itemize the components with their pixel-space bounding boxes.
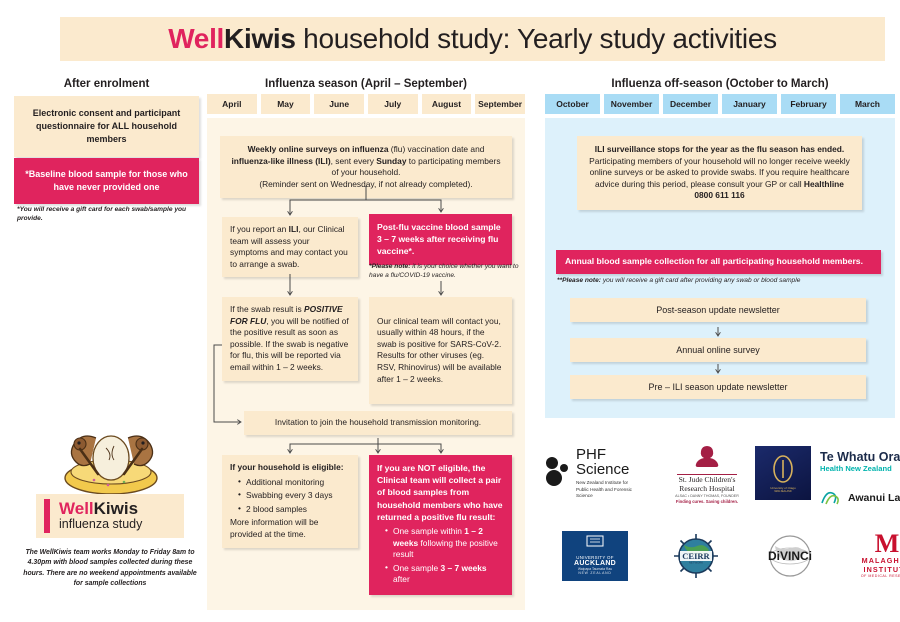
- month-tab-august: August: [422, 94, 472, 114]
- month-tab-january: January: [722, 94, 777, 114]
- team-hours-note: The WellKiwis team works Monday to Frida…: [20, 548, 200, 589]
- box-pre-ili-newsletter: Pre – ILI season update newsletter: [570, 375, 866, 399]
- list-item: 2 blood samples: [239, 504, 350, 516]
- title-brand-kiwis: Kiwis: [224, 23, 296, 54]
- title-brand-well: Well: [168, 23, 224, 54]
- heading-influenza-offseason: Influenza off-season (October to March): [545, 78, 895, 90]
- box-ili-surveillance-stops-text: ILI surveillance stops for the year as t…: [577, 136, 862, 210]
- phf-dots-icon: [545, 456, 571, 490]
- list-item: One sample within 1 – 2 weeks following …: [386, 526, 504, 561]
- note-post-flu-vaccine: *Please note: it is your choice whether …: [369, 262, 519, 280]
- box-post-season-newsletter: Post-season update newsletter: [570, 298, 866, 322]
- month-tab-november: November: [604, 94, 659, 114]
- month-tab-july: July: [368, 94, 418, 114]
- month-strip-offseason: OctoberNovemberDecemberJanuaryFebruaryMa…: [545, 94, 895, 114]
- box-ili-surveillance-stops: ILI surveillance stops for the year as t…: [577, 136, 862, 210]
- brand-stripe: [44, 499, 50, 533]
- box-transmission-invitation: Invitation to join the household transmi…: [244, 411, 512, 435]
- divinci-globe-icon: DiVINCi: [751, 533, 829, 579]
- box-not-eligible: If you are NOT eligible, the Clinical te…: [369, 455, 512, 595]
- box-weekly-surveys-text: Weekly online surveys on influenza (flu)…: [220, 136, 512, 198]
- malaghan-institute-logo: M MALAGHAN INSTITUTE OF MEDICAL RESEARCH: [837, 528, 900, 582]
- box-baseline-blood-sample: *Baseline blood sample for those who hav…: [14, 158, 199, 204]
- university-of-auckland-logo: UNIVERSITY OF AUCKLAND Waipapa Taumata R…: [550, 530, 640, 582]
- month-tab-may: May: [261, 94, 311, 114]
- box-electronic-consent: Electronic consent and participant quest…: [14, 96, 199, 157]
- heading-influenza-season: Influenza season (April – September): [207, 78, 525, 90]
- list-item: One sample 3 – 7 weeks after: [386, 563, 504, 586]
- month-tab-march: March: [840, 94, 895, 114]
- box-report-ili-text: If you report an ILI, our Clinical team …: [222, 217, 358, 277]
- month-tab-april: April: [207, 94, 257, 114]
- list-item: Additional monitoring: [239, 477, 350, 489]
- box-annual-online-survey: Annual online survey: [570, 338, 866, 362]
- kiwi-nest-icon: [36, 430, 186, 500]
- ceirr-logo: CEIRR NETWORK: [653, 530, 739, 582]
- box-clinical-team-contact: Our clinical team will contact you, usua…: [369, 297, 512, 404]
- month-tab-december: December: [663, 94, 718, 114]
- month-tab-october: October: [545, 94, 600, 114]
- phf-science-logo: PHF Science New Zealand Institute for Pu…: [545, 442, 663, 504]
- svg-text:NETWORK: NETWORK: [689, 560, 703, 564]
- box-post-flu-vaccine: Post-flu vaccine blood sample 3 – 7 week…: [369, 214, 512, 265]
- month-tab-february: February: [781, 94, 836, 114]
- footnote-gift-card: *You will receive a gift card for each s…: [17, 205, 202, 223]
- list-item: Swabbing every 3 days: [239, 490, 350, 502]
- box-household-eligible-text: If your household is eligible: Additiona…: [222, 455, 358, 548]
- infographic-page: WellKiwis household study: Yearly study …: [0, 0, 900, 622]
- brand-subtitle: influenza study: [59, 517, 142, 532]
- box-positive-for-flu: If the swab result is POSITIVE FOR FLU, …: [222, 297, 358, 381]
- partner-logos: PHF Science New Zealand Institute for Pu…: [545, 438, 895, 603]
- divinci-logo: DiVINCi: [745, 532, 835, 580]
- auckland-crest-icon: [585, 534, 605, 548]
- box-weekly-surveys: Weekly online surveys on influenza (flu)…: [220, 136, 512, 198]
- box-household-eligible: If your household is eligible: Additiona…: [222, 455, 358, 548]
- st-jude-logo: St. Jude Children's Research Hospital AL…: [665, 444, 749, 504]
- divinci-wordmark: DiVINCi: [768, 549, 812, 563]
- page-title-banner: WellKiwis household study: Yearly study …: [60, 17, 885, 61]
- otago-crest-icon: [770, 454, 796, 484]
- not-eligible-samples-list: One sample within 1 – 2 weeks following …: [377, 526, 504, 586]
- st-jude-child-icon: [690, 444, 724, 468]
- university-of-otago-logo: University of Otago NEW ZEALAND: [753, 444, 813, 502]
- box-report-ili: If you report an ILI, our Clinical team …: [222, 217, 358, 277]
- awanui-wave-icon: [820, 489, 844, 507]
- box-not-eligible-text: If you are NOT eligible, the Clinical te…: [369, 455, 512, 595]
- month-tab-september: September: [475, 94, 525, 114]
- title-rest: household study: Yearly study activities: [296, 23, 777, 54]
- te-whatu-ora-logo: Te Whatu Ora Health New Zealand: [820, 446, 900, 478]
- page-title: WellKiwis household study: Yearly study …: [168, 23, 777, 55]
- heading-after-enrolment: After enrolment: [14, 78, 199, 90]
- ceirr-virus-icon: CEIRR NETWORK: [670, 531, 722, 581]
- wellkiwis-brand-lockup: WellKiwis influenza study: [36, 494, 184, 538]
- note-annual-gift-card: **Please note: you will receive a gift c…: [557, 276, 887, 285]
- month-tab-june: June: [314, 94, 364, 114]
- brand-name: WellKiwis: [59, 500, 142, 517]
- eligible-benefits-list: Additional monitoringSwabbing every 3 da…: [230, 477, 350, 516]
- awanui-labs-logo: Awanui Labs: [820, 486, 900, 510]
- box-positive-for-flu-text: If the swab result is POSITIVE FOR FLU, …: [222, 297, 358, 381]
- svg-text:CEIRR: CEIRR: [682, 551, 710, 561]
- box-annual-blood-collection: Annual blood sample collection for all p…: [556, 250, 881, 274]
- month-strip-season: AprilMayJuneJulyAugustSeptember: [207, 94, 525, 114]
